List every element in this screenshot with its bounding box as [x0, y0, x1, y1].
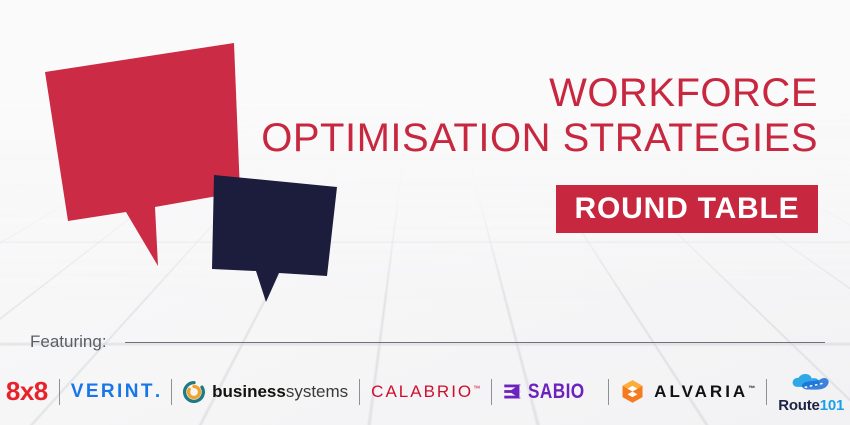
round-table-badge: ROUND TABLE [556, 185, 818, 233]
logo-sabio: SABIO [492, 369, 608, 415]
logo-business-systems-text: businesssystems [212, 382, 348, 402]
navy-speech-bubble [212, 175, 337, 302]
logo-verint-text: VERINT. [71, 381, 160, 403]
round-table-badge-label: ROUND TABLE [575, 192, 800, 226]
business-systems-swirl-icon [183, 381, 205, 403]
headline-line-1: WORKFORCE [261, 74, 818, 113]
partner-logo-strip: 8x8 VERINT. businesssystems CALABRIO™ [0, 358, 850, 425]
logo-route101: Route101 [767, 369, 850, 415]
logo-business-systems: businesssystems [172, 369, 359, 415]
logo-alvaria: ALVARIA™ [609, 369, 766, 415]
logo-8x8-text: 8x8 [6, 376, 48, 407]
logo-alvaria-text: ALVARIA™ [654, 382, 755, 402]
red-speech-bubble [45, 43, 240, 266]
page-title: WORKFORCE OPTIMISATION STRATEGIES [261, 74, 818, 158]
route101-road-icon [788, 370, 834, 396]
logo-route101-text: Route101 [778, 397, 844, 414]
featuring-label: Featuring: [30, 332, 107, 352]
featuring-row: Featuring: [30, 332, 825, 352]
logo-sabio-text: SABIO [528, 380, 585, 404]
logo-verint: VERINT. [60, 369, 171, 415]
alvaria-hexagon-icon [620, 379, 645, 404]
featuring-divider [125, 342, 825, 343]
logo-calabrio: CALABRIO™ [360, 369, 491, 415]
headline-line-2: OPTIMISATION STRATEGIES [261, 119, 818, 158]
banner-canvas: WORKFORCE OPTIMISATION STRATEGIES ROUND … [0, 0, 850, 425]
logo-calabrio-text: CALABRIO™ [371, 382, 480, 402]
logo-8x8: 8x8 [0, 369, 59, 415]
sabio-mark-icon [503, 382, 522, 401]
